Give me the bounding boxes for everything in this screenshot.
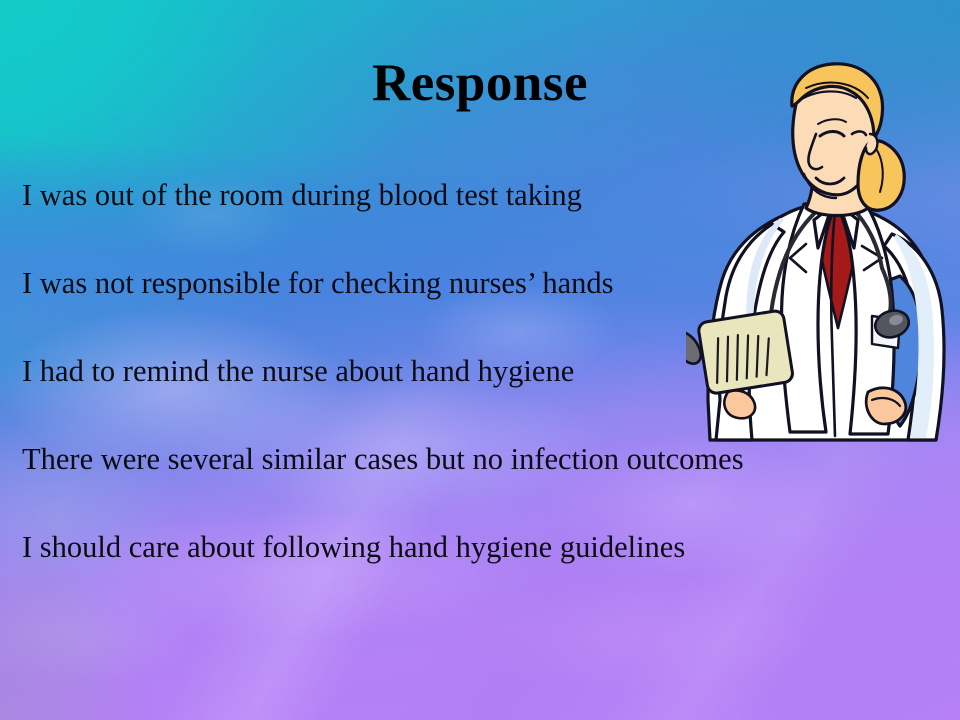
body-line-5: I should care about following hand hygie…	[22, 532, 932, 563]
presentation-slide: Response I was out of the room during bl…	[0, 0, 960, 720]
doctor-illustration	[686, 48, 960, 458]
